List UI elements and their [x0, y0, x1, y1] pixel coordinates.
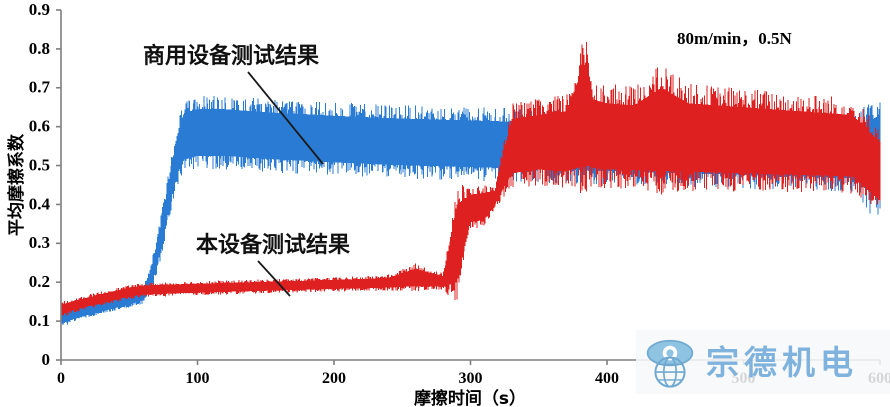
x-tick-label: 0: [57, 370, 65, 387]
annotation-commercial-label: 商用设备测试结果: [143, 43, 319, 69]
y-axis-ticks: 00.10.20.30.40.50.60.70.80.9: [29, 0, 61, 369]
y-tick-label: 0.9: [29, 0, 50, 19]
x-tick-label: 300: [459, 370, 483, 387]
y-tick-label: 0.1: [29, 311, 50, 330]
annotation-this-device-label: 本设备测试结果: [196, 232, 350, 258]
x-tick-label: 100: [186, 370, 210, 387]
y-tick-label: 0.8: [29, 39, 50, 58]
y-tick-label: 0.5: [29, 155, 50, 174]
y-tick-label: 0.3: [29, 233, 50, 252]
y-tick-label: 0.7: [29, 78, 51, 97]
x-tick-label: 600: [868, 370, 890, 387]
test-conditions-text: 80m/min，0.5N: [677, 29, 792, 48]
y-tick-label: 0: [42, 350, 51, 369]
x-tick-label: 500: [732, 370, 756, 387]
chart-canvas: 00.10.20.30.40.50.60.70.80.9 01002003004…: [0, 0, 890, 407]
x-tick-label: 400: [595, 370, 619, 387]
x-tick-label: 200: [322, 370, 346, 387]
y-tick-label: 0.4: [29, 194, 51, 213]
x-axis-title: 摩擦时间（s）: [414, 388, 526, 407]
x-axis-ticks: 0100200300400500600: [57, 360, 890, 387]
friction-coefficient-chart: 00.10.20.30.40.50.60.70.80.9 01002003004…: [0, 0, 890, 407]
y-tick-label: 0.2: [29, 272, 50, 291]
y-axis-title: 平均摩擦系数: [6, 133, 27, 236]
y-tick-label: 0.6: [29, 117, 50, 136]
